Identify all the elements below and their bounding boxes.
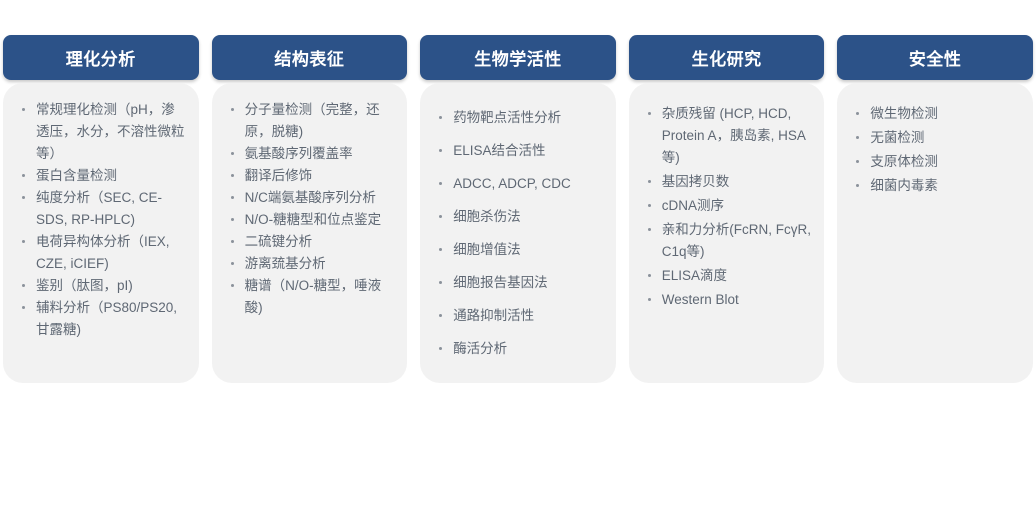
- category-column-structural: 结构表征 分子量检测（完整，还原，脱糖) 氨基酸序列覆盖率 翻译后修饰 N/C端…: [212, 35, 408, 383]
- list-item: 电荷异构体分析（IEX, CZE, iCIEF): [9, 231, 187, 275]
- list-item: N/C端氨基酸序列分析: [218, 187, 396, 209]
- item-list-biochemical: 杂质残留 (HCP, HCD, Protein A，胰岛素, HSA等) 基因拷…: [635, 103, 813, 311]
- list-item: N/O-糖糖型和位点鉴定: [218, 209, 396, 231]
- column-header-safety: 安全性: [837, 35, 1033, 80]
- list-item: 基因拷贝数: [635, 171, 813, 193]
- column-body-structural: 分子量检测（完整，还原，脱糖) 氨基酸序列覆盖率 翻译后修饰 N/C端氨基酸序列…: [212, 83, 408, 383]
- item-list-physicochemical: 常规理化检测（pH，渗透压，水分，不溶性微粒等） 蛋白含量检测 纯度分析（SEC…: [9, 99, 187, 341]
- list-item: 氨基酸序列覆盖率: [218, 143, 396, 165]
- list-item: 游离巯基分析: [218, 253, 396, 275]
- column-body-physicochemical: 常规理化检测（pH，渗透压，水分，不溶性微粒等） 蛋白含量检测 纯度分析（SEC…: [3, 83, 199, 383]
- list-item: 鉴别（肽图，pI): [9, 275, 187, 297]
- list-item: 亲和力分析(FcRN, FcγR, C1q等): [635, 219, 813, 263]
- item-list-structural: 分子量检测（完整，还原，脱糖) 氨基酸序列覆盖率 翻译后修饰 N/C端氨基酸序列…: [218, 99, 396, 319]
- column-grid: 理化分析 常规理化检测（pH，渗透压，水分，不溶性微粒等） 蛋白含量检测 纯度分…: [3, 35, 1033, 383]
- list-item: 通路抑制活性: [426, 305, 604, 327]
- list-item: 辅料分析（PS80/PS20,甘露糖): [9, 297, 187, 341]
- column-header-structural: 结构表征: [212, 35, 408, 80]
- column-body-safety: 微生物检测 无菌检测 支原体检测 细菌内毒素: [837, 83, 1033, 383]
- list-item: 纯度分析（SEC, CE-SDS, RP-HPLC): [9, 187, 187, 231]
- list-item: 支原体检测: [843, 151, 1021, 173]
- analysis-capability-board: 理化分析 常规理化检测（pH，渗透压，水分，不溶性微粒等） 蛋白含量检测 纯度分…: [0, 0, 1036, 512]
- item-list-safety: 微生物检测 无菌检测 支原体检测 细菌内毒素: [843, 103, 1021, 197]
- item-list-bioactivity: 药物靶点活性分析 ELISA结合活性 ADCC, ADCP, CDC 细胞杀伤法…: [426, 107, 604, 360]
- list-item: 无菌检测: [843, 127, 1021, 149]
- list-item: 酶活分析: [426, 338, 604, 360]
- column-header-biochemical: 生化研究: [629, 35, 825, 80]
- list-item: 细胞增值法: [426, 239, 604, 261]
- list-item: 细胞杀伤法: [426, 206, 604, 228]
- list-item: ADCC, ADCP, CDC: [426, 173, 604, 195]
- list-item: 糖谱（N/O-糖型，唾液酸): [218, 275, 396, 319]
- list-item: 细胞报告基因法: [426, 272, 604, 294]
- list-item: 蛋白含量检测: [9, 165, 187, 187]
- category-column-physicochemical: 理化分析 常规理化检测（pH，渗透压，水分，不溶性微粒等） 蛋白含量检测 纯度分…: [3, 35, 199, 383]
- list-item: Western Blot: [635, 289, 813, 311]
- list-item: 细菌内毒素: [843, 175, 1021, 197]
- column-header-physicochemical: 理化分析: [3, 35, 199, 80]
- column-header-bioactivity: 生物学活性: [420, 35, 616, 80]
- list-item: cDNA测序: [635, 195, 813, 217]
- list-item: 杂质残留 (HCP, HCD, Protein A，胰岛素, HSA等): [635, 103, 813, 169]
- list-item: 常规理化检测（pH，渗透压，水分，不溶性微粒等）: [9, 99, 187, 165]
- list-item: ELISA滴度: [635, 265, 813, 287]
- list-item: 微生物检测: [843, 103, 1021, 125]
- category-column-biochemical: 生化研究 杂质残留 (HCP, HCD, Protein A，胰岛素, HSA等…: [629, 35, 825, 383]
- list-item: 药物靶点活性分析: [426, 107, 604, 129]
- list-item: ELISA结合活性: [426, 140, 604, 162]
- column-body-biochemical: 杂质残留 (HCP, HCD, Protein A，胰岛素, HSA等) 基因拷…: [629, 83, 825, 383]
- category-column-bioactivity: 生物学活性 药物靶点活性分析 ELISA结合活性 ADCC, ADCP, CDC…: [420, 35, 616, 383]
- list-item: 二硫键分析: [218, 231, 396, 253]
- list-item: 分子量检测（完整，还原，脱糖): [218, 99, 396, 143]
- category-column-safety: 安全性 微生物检测 无菌检测 支原体检测 细菌内毒素: [837, 35, 1033, 383]
- column-body-bioactivity: 药物靶点活性分析 ELISA结合活性 ADCC, ADCP, CDC 细胞杀伤法…: [420, 83, 616, 383]
- list-item: 翻译后修饰: [218, 165, 396, 187]
